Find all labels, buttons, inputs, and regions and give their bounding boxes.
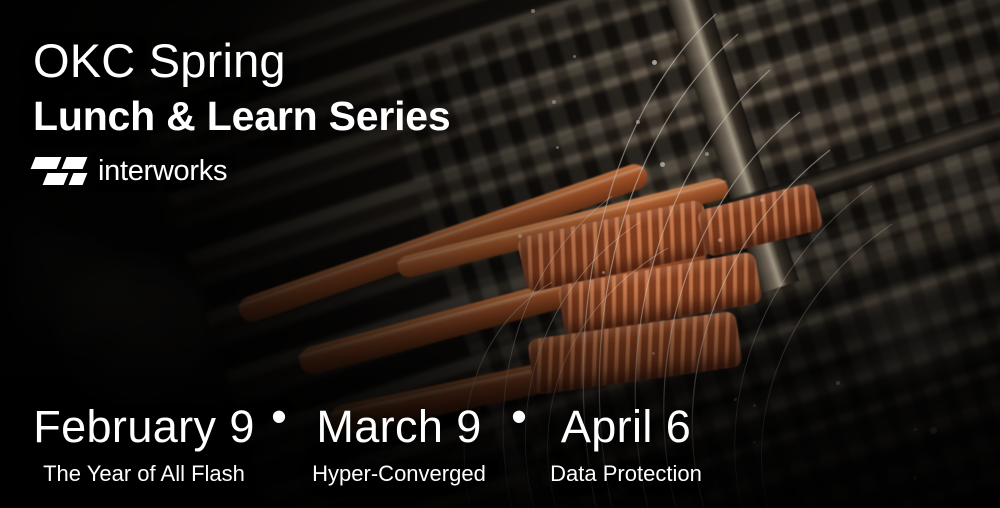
event-item-2: March 9 Hyper-Converged bbox=[303, 403, 495, 486]
interworks-logo-mark-icon bbox=[33, 152, 85, 190]
interworks-logo: interworks bbox=[33, 152, 227, 190]
event-item-3: April 6 Data Protection bbox=[543, 403, 709, 486]
headline-line-2: Lunch & Learn Series bbox=[33, 92, 451, 140]
logo-parallelogram-3 bbox=[43, 173, 69, 185]
event-date-2: March 9 bbox=[303, 403, 495, 450]
headline-block: OKC Spring Lunch & Learn Series bbox=[33, 36, 451, 140]
event-topic-3: Data Protection bbox=[543, 462, 709, 486]
logo-parallelogram-2 bbox=[62, 157, 88, 169]
logo-parallelogram-1 bbox=[31, 157, 62, 169]
bullet-separator-icon: • bbox=[255, 393, 303, 440]
logo-parallelogram-4 bbox=[69, 173, 88, 185]
event-topic-2: Hyper-Converged bbox=[303, 462, 495, 486]
event-schedule: February 9 The Year of All Flash • March… bbox=[33, 403, 733, 486]
event-date-1: February 9 bbox=[33, 403, 255, 450]
event-banner: OKC Spring Lunch & Learn Series interwor… bbox=[0, 0, 1000, 508]
bullet-separator-icon: • bbox=[495, 393, 543, 440]
banner-content: OKC Spring Lunch & Learn Series interwor… bbox=[0, 0, 1000, 508]
event-topic-1: The Year of All Flash bbox=[33, 462, 255, 486]
event-schedule-row: February 9 The Year of All Flash • March… bbox=[33, 403, 733, 486]
event-date-3: April 6 bbox=[543, 403, 709, 450]
event-item-1: February 9 The Year of All Flash bbox=[33, 403, 255, 486]
headline-line-1: OKC Spring bbox=[33, 36, 451, 86]
interworks-wordmark: interworks bbox=[98, 155, 227, 188]
